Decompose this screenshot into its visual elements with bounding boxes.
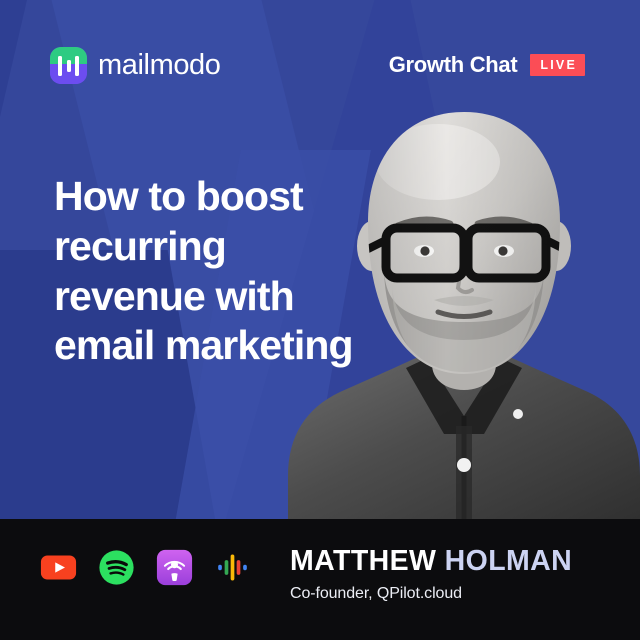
- card-footer: MATTHEW HOLMAN Co-founder, QPilot.cloud: [0, 519, 640, 640]
- brand-name: mailmodo: [98, 49, 221, 82]
- live-badge: LIVE: [530, 54, 585, 77]
- youtube-icon[interactable]: [40, 549, 77, 586]
- brand-lockup: mailmodo: [50, 47, 221, 84]
- headline-line-4: email marketing: [54, 321, 414, 371]
- headline-line-3: revenue with: [54, 272, 414, 322]
- show-title: Growth Chat: [389, 52, 518, 78]
- apple-podcasts-icon[interactable]: [156, 549, 193, 586]
- card-header: mailmodo Growth Chat LIVE: [0, 0, 640, 130]
- speaker-role: Co-founder, QPilot.cloud: [290, 585, 610, 603]
- google-podcasts-icon[interactable]: [214, 549, 251, 586]
- speaker-name: MATTHEW HOLMAN: [290, 546, 610, 578]
- headline: How to boost recurring revenue with emai…: [54, 172, 414, 371]
- headline-line-1: How to boost: [54, 172, 414, 222]
- spotify-icon[interactable]: [98, 549, 135, 586]
- webinar-promo-card: mailmodo Growth Chat LIVE How to boost r…: [0, 0, 640, 640]
- show-lockup: Growth Chat LIVE: [389, 52, 585, 78]
- speaker-details: MATTHEW HOLMAN Co-founder, QPilot.cloud: [290, 546, 610, 603]
- mailmodo-logo-icon: [50, 47, 87, 84]
- speaker-last-name: HOLMAN: [445, 545, 572, 577]
- platform-icon-row: [40, 549, 251, 586]
- speaker-first-name: MATTHEW: [290, 545, 436, 577]
- headline-line-2: recurring: [54, 222, 414, 272]
